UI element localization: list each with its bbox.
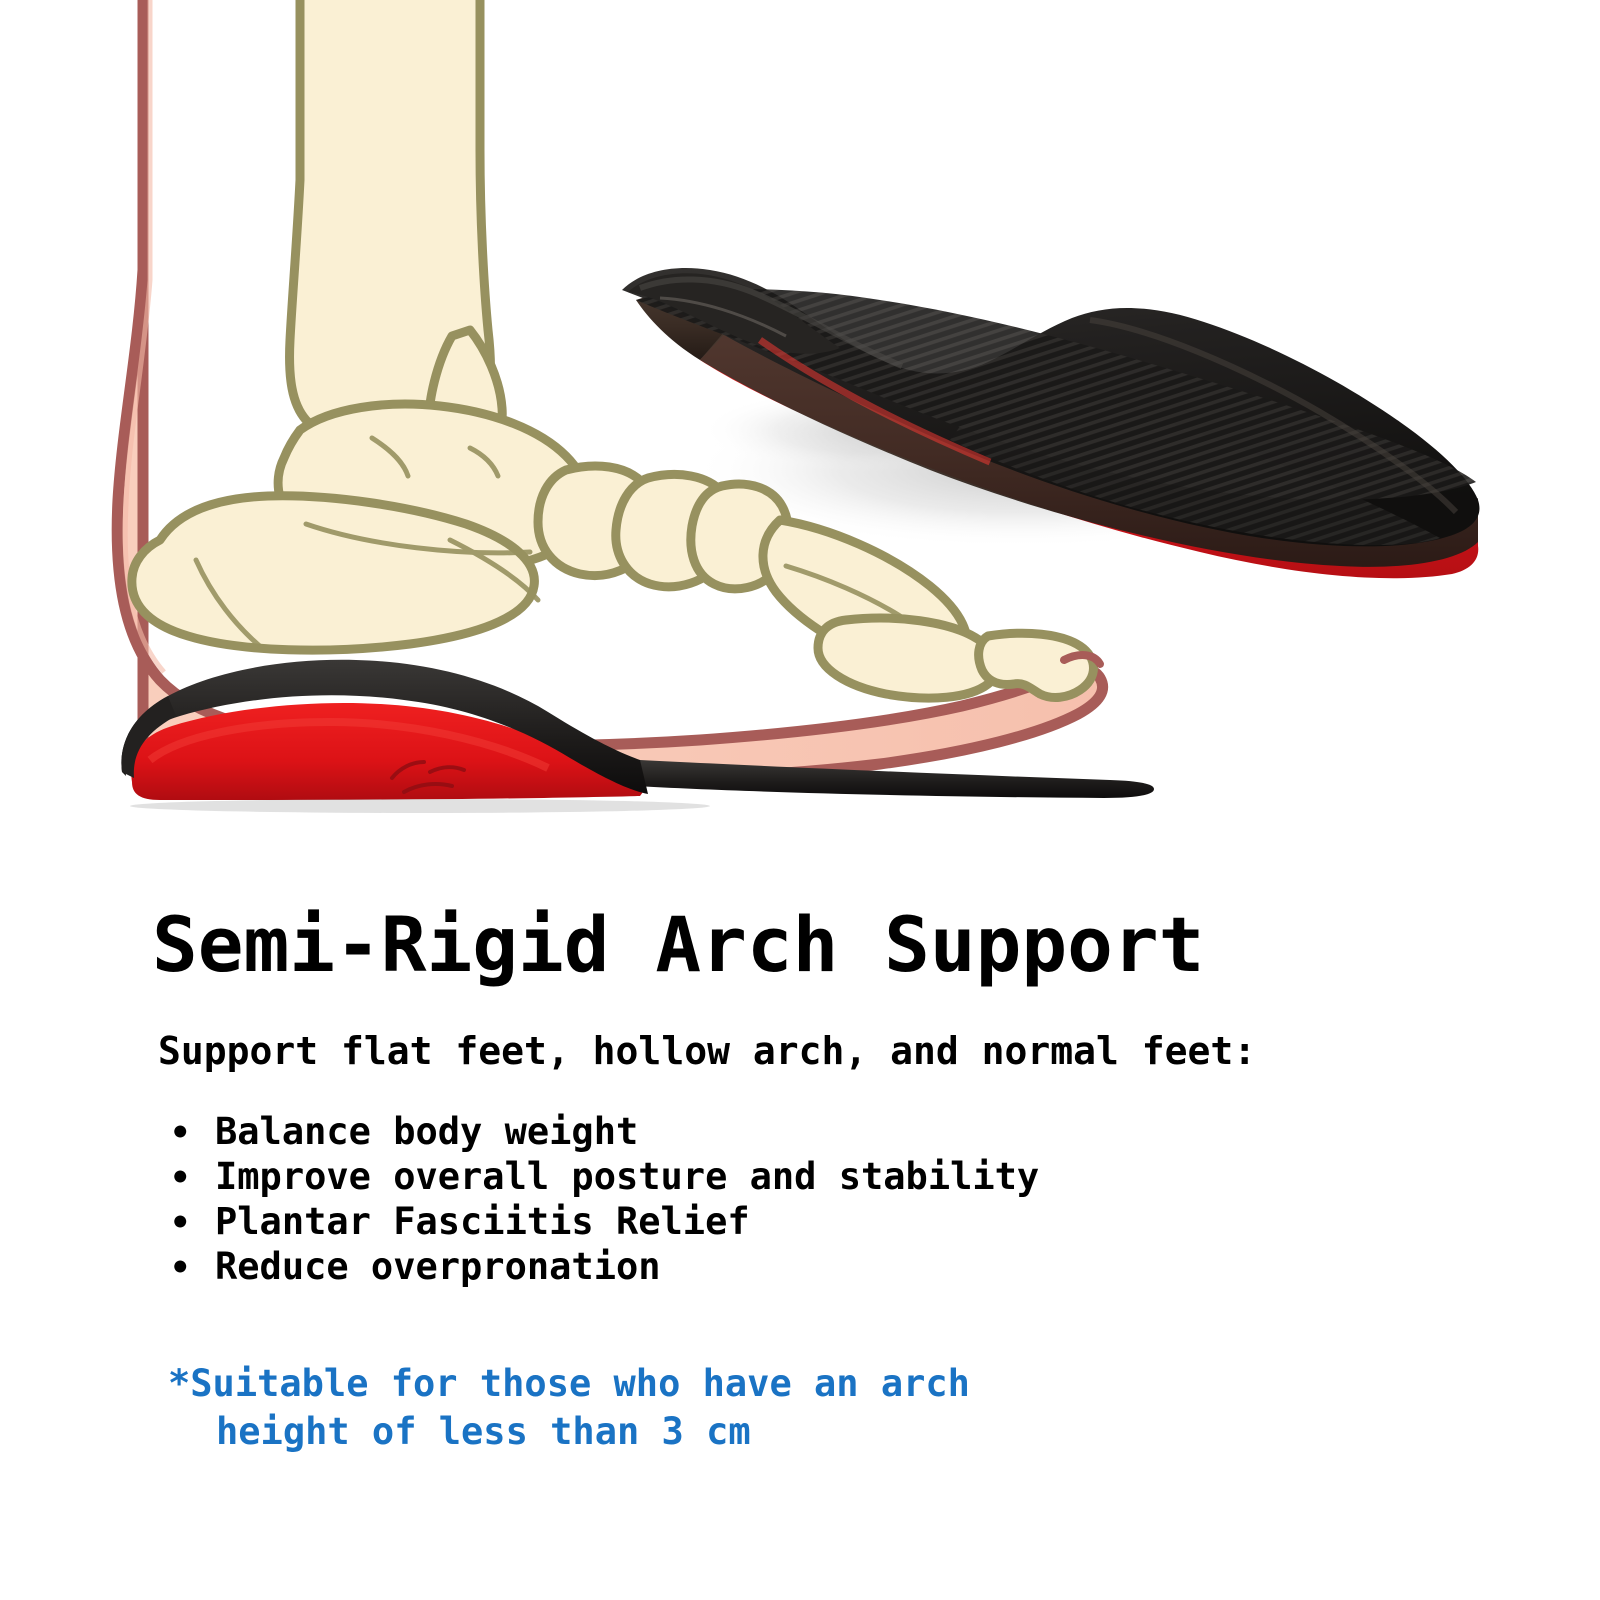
list-item-label: Balance body weight bbox=[215, 1110, 638, 1153]
benefits-list: • Balance body weight • Improve overall … bbox=[170, 1110, 1039, 1290]
list-item-label: Plantar Fasciitis Relief bbox=[215, 1200, 750, 1243]
footnote: *Suitable for those who have an arch hei… bbox=[168, 1360, 970, 1456]
product-infographic: Semi-Rigid Arch Support Support flat fee… bbox=[0, 0, 1600, 1600]
proximal-phalanx-bone bbox=[818, 618, 998, 698]
list-item: • Reduce overpronation bbox=[170, 1245, 1039, 1290]
list-item: • Plantar Fasciitis Relief bbox=[170, 1200, 1039, 1245]
list-item-label: Improve overall posture and stability bbox=[215, 1155, 1039, 1198]
bullet-icon: • bbox=[170, 1247, 215, 1290]
list-item: • Balance body weight bbox=[170, 1110, 1039, 1155]
illustration-area bbox=[0, 0, 1600, 880]
bullet-icon: • bbox=[170, 1112, 215, 1155]
product-copy-block: Semi-Rigid Arch Support Support flat fee… bbox=[0, 880, 1600, 1600]
list-item-label: Reduce overpronation bbox=[215, 1245, 661, 1288]
product-subtitle: Support flat feet, hollow arch, and norm… bbox=[158, 1028, 1256, 1074]
distal-phalanx-bone bbox=[979, 633, 1094, 697]
footnote-line-1: *Suitable for those who have an arch bbox=[168, 1362, 970, 1405]
page-title: Semi-Rigid Arch Support bbox=[152, 902, 1204, 988]
bullet-icon: • bbox=[170, 1202, 215, 1245]
list-item: • Improve overall posture and stability bbox=[170, 1155, 1039, 1200]
footnote-line-2: height of less than 3 cm bbox=[168, 1408, 970, 1456]
bullet-icon: • bbox=[170, 1157, 215, 1200]
